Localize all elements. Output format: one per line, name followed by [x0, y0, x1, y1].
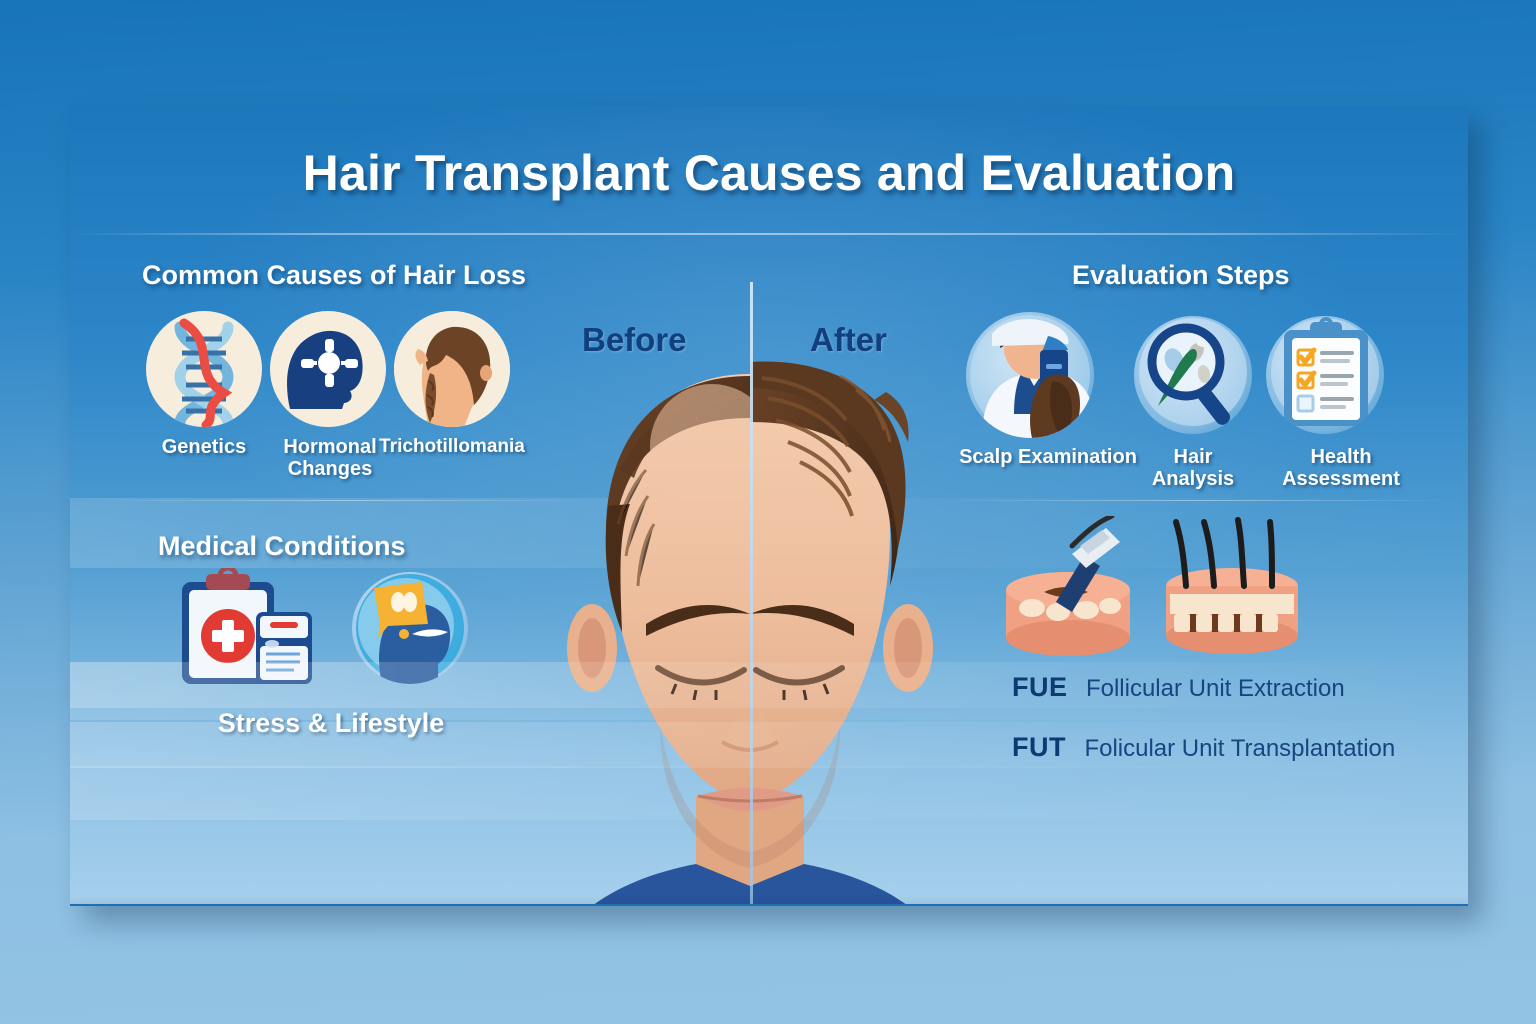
icon-circle-hormonal: [270, 311, 386, 427]
bottom-banner: Diagnosis & Treatment Planning: [70, 904, 1468, 906]
bottom-banner-text: Diagnosis & Treatment Planning: [70, 904, 1468, 906]
icon-circle-scalp-exam: [966, 312, 1094, 438]
poster-stage: Hair Transplant Causes and Evaluation Co…: [0, 0, 1536, 1024]
fue-abbr: FUE: [1012, 672, 1068, 702]
fue-text: Follicular Unit Extraction: [1086, 675, 1345, 702]
icon-circle-genetics: [146, 311, 262, 427]
caption-genetics: Genetics: [130, 436, 278, 458]
head-hormone-icon: [270, 311, 386, 427]
magnifier-follicle-icon: [1134, 316, 1252, 434]
title-underline-sheen: [70, 233, 1468, 235]
infographic-panel: Hair Transplant Causes and Evaluation Co…: [70, 106, 1468, 906]
fue-row: FUE Follicular Unit Extraction: [1012, 672, 1345, 703]
page-title: Hair Transplant Causes and Evaluation: [70, 144, 1468, 202]
caption-hair-analysis-line2: Analysis: [1130, 468, 1256, 490]
caption-scalp-examination: Scalp Examination: [950, 446, 1146, 468]
fut-row: FUT Folicular Unit Transplantation: [1012, 732, 1395, 763]
caption-hormonal-line2: Changes: [260, 458, 400, 480]
before-after-split-line: [750, 282, 753, 906]
icon-fue-fut-illustrations: [1000, 516, 1320, 664]
heading-medical-conditions: Medical Conditions: [158, 531, 406, 562]
woman-braid-icon: [394, 311, 510, 427]
fut-text: Folicular Unit Transplantation: [1084, 735, 1395, 762]
heading-common-causes: Common Causes of Hair Loss: [142, 260, 526, 291]
divider-right-sections: [938, 500, 1458, 501]
caption-health-assessment-line2: Assessment: [1262, 468, 1420, 490]
caption-health-assessment: Health Assessment: [1262, 446, 1420, 491]
icon-circle-health-assessment: [1266, 316, 1384, 434]
caption-hair-analysis: Hair Analysis: [1130, 446, 1256, 491]
caption-hair-analysis-line1: Hair: [1130, 446, 1256, 468]
doctor-scalp-exam-icon: [966, 312, 1094, 438]
icon-circle-trichotillomania: [394, 311, 510, 427]
clipboard-checklist-icon: [1266, 316, 1384, 434]
dna-helix-icon: [146, 311, 262, 427]
heading-evaluation-steps: Evaluation Steps: [1072, 260, 1290, 291]
icon-circle-hair-analysis: [1134, 316, 1252, 434]
fut-abbr: FUT: [1012, 732, 1066, 762]
caption-health-assessment-line1: Health: [1262, 446, 1420, 468]
